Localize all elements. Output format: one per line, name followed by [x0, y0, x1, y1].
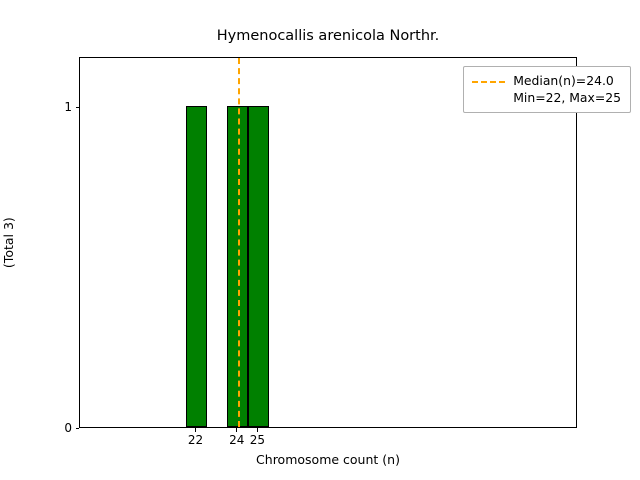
median-line — [238, 58, 240, 427]
legend-text: Median(n)=24.0 Min=22, Max=25 — [513, 73, 621, 106]
chart-title: Hymenocallis arenicola Northr. — [79, 28, 577, 44]
y-tick-label: 0 — [64, 422, 72, 434]
x-tick-label: 24 — [229, 434, 244, 446]
y-tick-mark — [76, 107, 80, 108]
x-tick-label: 25 — [250, 434, 265, 446]
y-axis-label: Num of counts (Total 3) — [0, 57, 46, 428]
x-tick-mark — [195, 428, 196, 432]
x-tick-mark — [257, 428, 258, 432]
y-tick-mark — [76, 428, 80, 429]
y-axis-label-line2: (Total 3) — [0, 197, 16, 288]
x-tick-mark — [236, 428, 237, 432]
chart-figure: Hymenocallis arenicola Northr. Num of co… — [0, 0, 640, 480]
legend-minmax-label: Min=22, Max=25 — [513, 90, 621, 107]
x-axis-label: Chromosome count (n) — [79, 452, 577, 467]
median-line-swatch-icon — [472, 81, 505, 83]
bar — [186, 106, 207, 427]
y-tick-label: 1 — [64, 101, 72, 113]
legend-median-label: Median(n)=24.0 — [513, 73, 621, 90]
bar — [248, 106, 269, 427]
x-tick-label: 22 — [188, 434, 203, 446]
chart-legend: Median(n)=24.0 Min=22, Max=25 — [463, 66, 631, 113]
